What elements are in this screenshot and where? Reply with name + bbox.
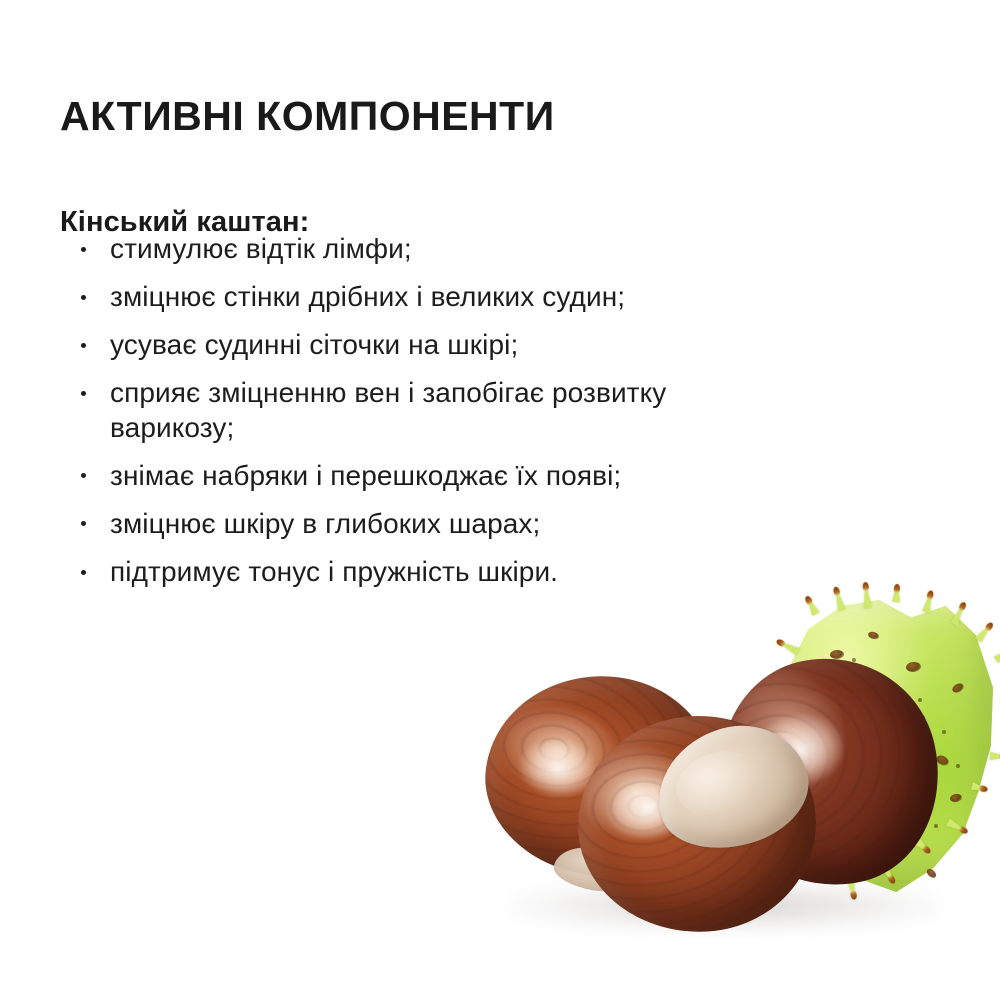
list-item: зміцнює стінки дрібних і великих судин; (78, 280, 868, 314)
husk-fleck (918, 698, 922, 702)
husk-spike-icon (990, 752, 1000, 761)
benefit-text: усуває судинні сіточки на шкірі; (110, 328, 750, 362)
benefit-list: стимулює відтік лімфи; зміцнює стінки др… (78, 232, 868, 603)
bullet-dot-icon (81, 473, 86, 478)
husk-fleck (942, 730, 946, 734)
bullet-dot-icon (81, 570, 86, 575)
husk-spike-icon (803, 594, 819, 615)
list-item: усуває судинні сіточки на шкірі; (78, 328, 868, 362)
bullet-dot-icon (81, 391, 86, 396)
husk-fleck (956, 764, 960, 768)
bullet-dot-icon (81, 247, 86, 252)
list-item: зміцнює шкіру в глибоких шарах; (78, 507, 868, 541)
husk-spike-icon (892, 584, 901, 603)
husk-spike-icon (861, 582, 872, 609)
list-item: сприяє зміцненню вен і запобігає розвитк… (78, 376, 868, 444)
husk-spike-icon (775, 637, 800, 655)
slide-root: АКТИВНІ КОМПОНЕНТИ Кінський каштан: стим… (0, 0, 1000, 1000)
list-item: знімає набряки і перешкоджає їх появі; (78, 459, 868, 493)
benefit-text: знімає набряки і перешкоджає їх появі; (110, 459, 750, 493)
bullet-dot-icon (81, 343, 86, 348)
benefit-text: сприяє зміцненню вен і запобігає розвитк… (110, 376, 750, 444)
husk-spike-icon (994, 647, 1000, 663)
husk-spike-icon (832, 586, 846, 611)
list-item: стимулює відтік лімфи; (78, 232, 868, 266)
benefit-text: зміцнює шкіру в глибоких шарах; (110, 507, 750, 541)
chestnut-photo (470, 580, 1000, 1000)
husk-pit (925, 867, 938, 880)
benefit-text: зміцнює стінки дрібних і великих судин; (110, 280, 750, 314)
husk-fleck (934, 824, 938, 828)
husk-spike-icon (922, 590, 935, 613)
page-title: АКТИВНІ КОМПОНЕНТИ (60, 95, 555, 138)
benefit-text: стимулює відтік лімфи; (110, 232, 750, 266)
bullet-dot-icon (81, 295, 86, 300)
bullet-dot-icon (81, 521, 86, 526)
husk-spike-icon (975, 621, 995, 643)
